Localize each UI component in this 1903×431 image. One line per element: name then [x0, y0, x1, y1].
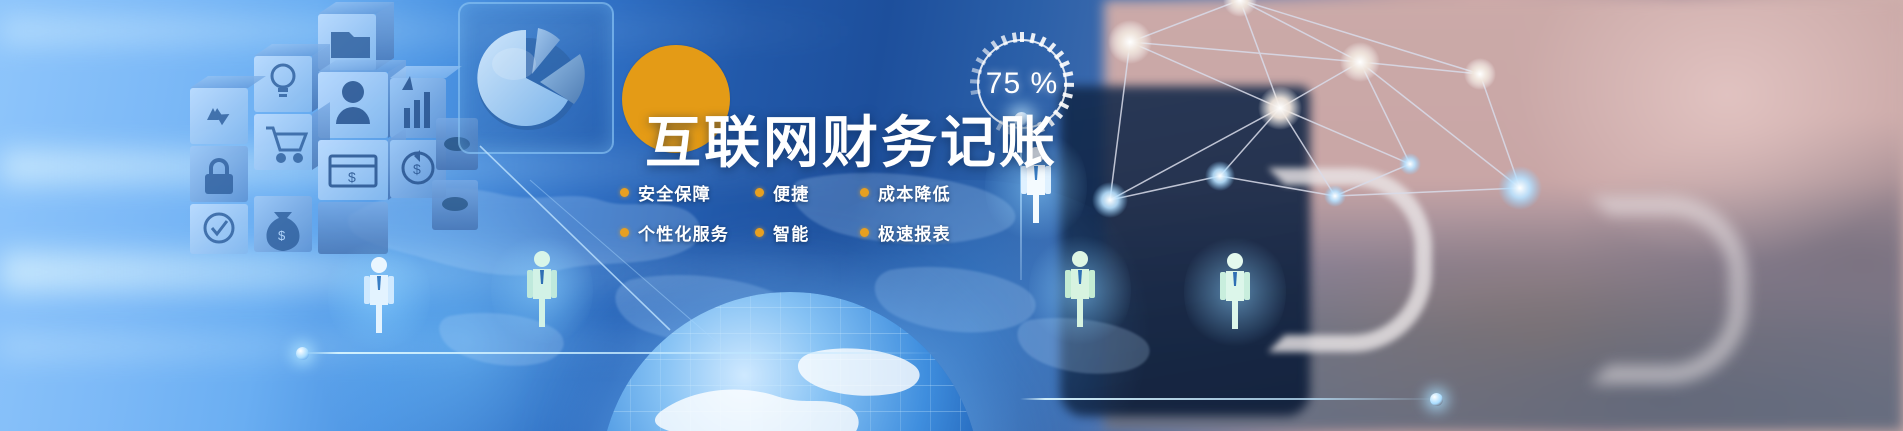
- business-person-figure: [362, 256, 396, 336]
- dot-bullet-icon: [755, 188, 764, 197]
- business-person-figure: [1063, 250, 1097, 330]
- icon-cube-illustration: $ $: [176, 10, 476, 250]
- world-globe: [600, 292, 980, 431]
- dot-bullet-icon: [860, 228, 869, 237]
- feature-item[interactable]: 便捷: [755, 180, 860, 205]
- feature-item[interactable]: 极速报表: [860, 220, 990, 245]
- feature-item[interactable]: 智能: [755, 220, 860, 245]
- network-links: [1110, 0, 1520, 200]
- pie-chart: [468, 8, 604, 144]
- feature-item[interactable]: 安全保障: [620, 180, 755, 205]
- rail-node: [296, 347, 309, 360]
- feature-label: 智能: [773, 220, 809, 245]
- feature-label: 极速报表: [878, 220, 951, 245]
- feature-item[interactable]: 成本降低: [860, 180, 990, 205]
- money-note-icon: [442, 197, 468, 211]
- pie-chart-panel: [458, 2, 614, 154]
- business-person-figure: [525, 250, 559, 330]
- marketing-banner: $ $: [0, 0, 1903, 431]
- svg-text:$: $: [278, 228, 286, 243]
- feature-label: 个性化服务: [638, 220, 729, 245]
- glow-rail: [300, 352, 940, 354]
- feature-row: 个性化服务 智能 极速报表: [620, 220, 1000, 245]
- network-nodes: [1092, 0, 1542, 218]
- feature-label: 安全保障: [638, 180, 711, 205]
- dot-bullet-icon: [755, 228, 764, 237]
- feature-item[interactable]: 个性化服务: [620, 220, 755, 245]
- feature-row: 安全保障 便捷 成本降低: [620, 180, 1000, 205]
- svg-text:$: $: [348, 169, 356, 185]
- page-title: 互联网财务记账: [645, 98, 1058, 179]
- feature-list: 安全保障 便捷 成本降低 个性化服务 智能 极速报表: [620, 180, 1000, 260]
- feature-label: 成本降低: [878, 180, 951, 205]
- business-person-figure: [1218, 252, 1252, 332]
- feature-label: 便捷: [773, 180, 809, 205]
- svg-text:$: $: [413, 161, 421, 177]
- rail-node: [1430, 393, 1443, 406]
- network-graph: [1060, 0, 1620, 230]
- glow-rail: [1020, 398, 1440, 400]
- dot-bullet-icon: [620, 228, 629, 237]
- dot-bullet-icon: [860, 188, 869, 197]
- dot-bullet-icon: [620, 188, 629, 197]
